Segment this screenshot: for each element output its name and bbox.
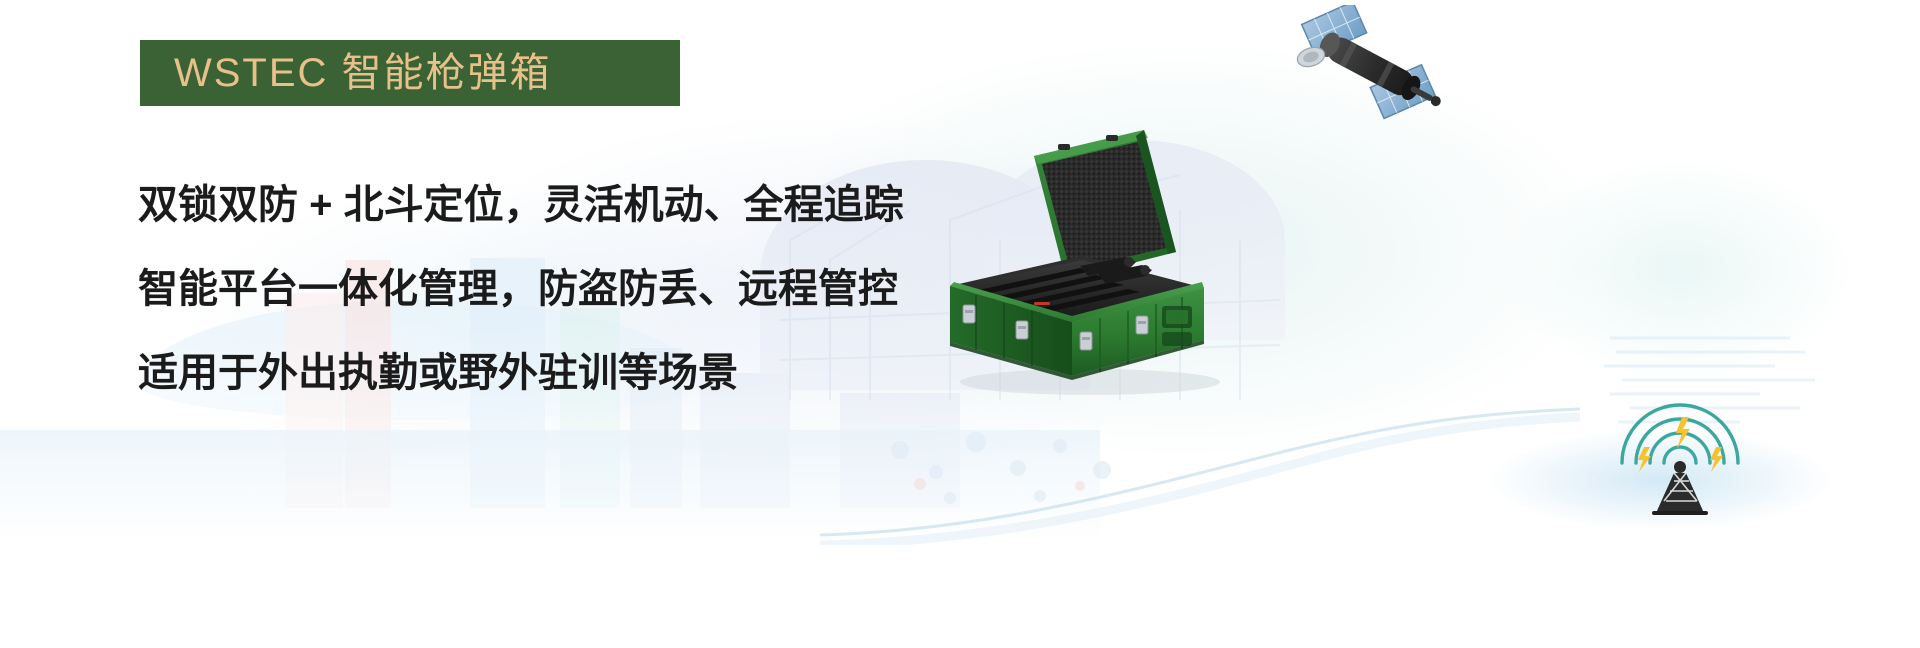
tower-mast: [1656, 461, 1704, 513]
feature-line-2: 智能平台一体化管理，防盗防丢、远程管控: [138, 269, 968, 309]
background-building: [840, 393, 960, 508]
signal-waves: [1622, 405, 1738, 463]
page-title: WSTEC 智能枪弹箱: [140, 53, 552, 93]
feature-list: 双锁双防 + 北斗定位，灵活机动、全程追踪 智能平台一体化管理，防盗防丢、远程管…: [138, 185, 968, 393]
case-lid: [1034, 130, 1176, 280]
background-road-curve: [820, 395, 1580, 545]
product-image-ammunition-case: [930, 110, 1260, 400]
satellite-icon: [1285, 5, 1455, 130]
tower-base: [1652, 511, 1708, 515]
banner-canvas: WSTEC 智能枪弹箱 双锁双防 + 北斗定位，灵活机动、全程追踪 智能平台一体…: [0, 0, 1920, 648]
feature-line-1: 双锁双防 + 北斗定位，灵活机动、全程追踪: [138, 185, 968, 225]
background-dot-cluster: [880, 420, 1140, 510]
signal-tower-icon: [1600, 355, 1760, 515]
background-ground-band: [0, 430, 1100, 540]
title-banner: WSTEC 智能枪弹箱: [140, 40, 680, 106]
feature-line-3: 适用于外出执勤或野外驻训等场景: [138, 353, 968, 393]
